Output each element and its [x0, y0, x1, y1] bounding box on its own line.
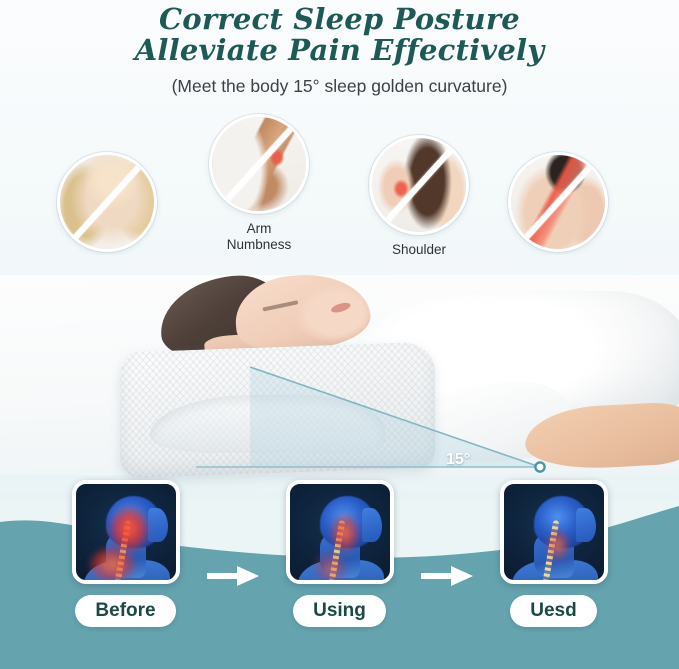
- comparison-row: Before Using: [0, 480, 679, 628]
- neck-anatomy-pain-low-icon: [500, 480, 608, 584]
- hero-photo: 15°: [0, 255, 679, 500]
- angle-label: 15°: [446, 451, 470, 469]
- comparison-step-before[interactable]: Before: [51, 480, 201, 627]
- arrow-2: [415, 524, 479, 628]
- shoulder-acid-photo-icon: [369, 135, 469, 235]
- chronic-neck-pain-photo-icon: [508, 152, 608, 252]
- comparison-step-using[interactable]: Using: [265, 480, 415, 627]
- neck-anatomy-pain-medium-icon: [286, 480, 394, 584]
- comparison-label-using: Using: [293, 595, 386, 627]
- symptom-item-arm-numbness: Arm Numbness: [209, 114, 314, 254]
- headache-photo-icon: [57, 152, 157, 252]
- arrow-right-icon: [421, 565, 473, 587]
- symptom-label-arm-numbness-line1: Arm: [204, 221, 314, 237]
- arrow-right-icon: [207, 565, 259, 587]
- symptom-label-arm-numbness: Arm Numbness: [204, 221, 314, 254]
- before-after-comparison: Before Using: [0, 484, 679, 669]
- comparison-label-before: Before: [75, 595, 175, 627]
- symptom-label-arm-numbness-line2: Numbness: [204, 237, 314, 253]
- arm-numbness-photo-icon: [209, 114, 309, 214]
- comparison-label-used: Uesd: [510, 595, 596, 627]
- angle-vertex-dot: [535, 462, 544, 471]
- symptom-item-shoulder-acid: Shoulder Acid: [369, 135, 474, 275]
- infographic-page: Correct Sleep Posture Alleviate Pain Eff…: [0, 0, 679, 669]
- neck-anatomy-pain-high-icon: [72, 480, 180, 584]
- arrow-1: [201, 524, 265, 628]
- angle-annotation: [0, 255, 679, 500]
- comparison-step-used[interactable]: Uesd: [479, 480, 629, 627]
